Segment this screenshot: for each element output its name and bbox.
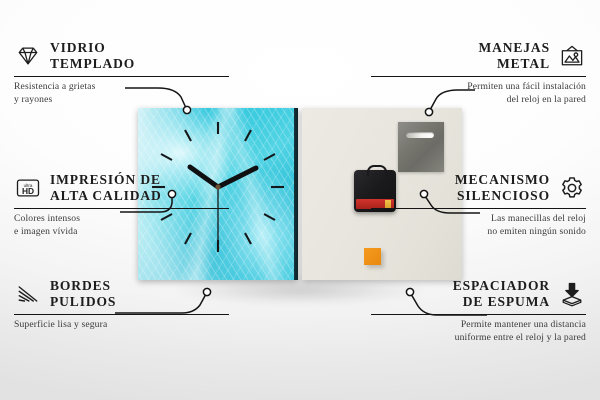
foam-spacer-icon [558, 280, 586, 308]
feature-title-line1: IMPRESIÓN DE [50, 172, 162, 188]
feature-desc-line2: e imagen vívida [14, 226, 229, 239]
feature-title-line2: DE ESPUMA [453, 294, 550, 310]
feature-title-line1: MECANISMO [455, 172, 550, 188]
feature-espaciador-espuma: ESPACIADOR DE ESPUMA Permite mantener un… [371, 278, 586, 345]
feature-title-line2: PULIDOS [50, 294, 116, 310]
feature-desc-line1: Resistencia a grietas [14, 81, 229, 94]
feature-title-line1: ESPACIADOR [453, 278, 550, 294]
ultra-hd-icon-large-text: HD [22, 187, 34, 197]
feature-title-line2: TEMPLADO [50, 56, 135, 72]
feature-desc-line1: Permiten una fácil instalación [371, 81, 586, 94]
feature-rule [371, 208, 586, 209]
feature-desc-line2: uniforme entre el reloj y la pared [371, 332, 586, 345]
foam-spacer [364, 248, 381, 265]
feature-manejas-metal: MANEJAS METAL Permiten una fácil instala… [371, 40, 586, 107]
diamond-icon [14, 42, 42, 70]
feature-desc-line1: Permite mantener una distancia [371, 319, 586, 332]
feature-title-line2: ALTA CALIDAD [50, 188, 162, 204]
feature-title-line2: METAL [478, 56, 550, 72]
hanger-keyhole-slot [406, 132, 434, 138]
feature-desc-line2: del reloj en la pared [371, 94, 586, 107]
feature-rule [14, 314, 229, 315]
feature-desc-line1: Superficie lisa y segura [14, 319, 229, 332]
infographic-canvas: VIDRIO TEMPLADO Resistencia a grietas y … [0, 0, 600, 400]
clock-panel-edge [294, 108, 298, 280]
feature-vidrio-templado: VIDRIO TEMPLADO Resistencia a grietas y … [14, 40, 229, 107]
feature-rule [14, 76, 229, 77]
feature-desc-line2: y rayones [14, 94, 229, 107]
feature-title-line1: MANEJAS [478, 40, 550, 56]
feature-mecanismo-silencioso: MECANISMO SILENCIOSO Las manecillas del … [371, 172, 586, 239]
feature-bordes-pulidos: BORDES PULIDOS Superficie lisa y segura [14, 278, 229, 332]
picture-hanger-icon [558, 42, 586, 70]
feature-desc-line2: no emiten ningún sonido [371, 226, 586, 239]
feature-desc-line1: Las manecillas del reloj [371, 213, 586, 226]
gear-icon [558, 174, 586, 202]
feature-title-line1: VIDRIO [50, 40, 135, 56]
feature-rule [371, 314, 586, 315]
feature-rule [14, 208, 229, 209]
ultra-hd-icon: ultra HD [14, 174, 42, 202]
metal-hanger-plate [398, 122, 444, 172]
feature-title-line1: BORDES [50, 278, 116, 294]
feature-rule [371, 76, 586, 77]
polished-edges-icon [14, 280, 42, 308]
feature-desc-line1: Colores intensos [14, 213, 229, 226]
feature-title-line2: SILENCIOSO [455, 188, 550, 204]
feature-impresion-alta-calidad: ultra HD IMPRESIÓN DE ALTA CALIDAD Color… [14, 172, 229, 239]
